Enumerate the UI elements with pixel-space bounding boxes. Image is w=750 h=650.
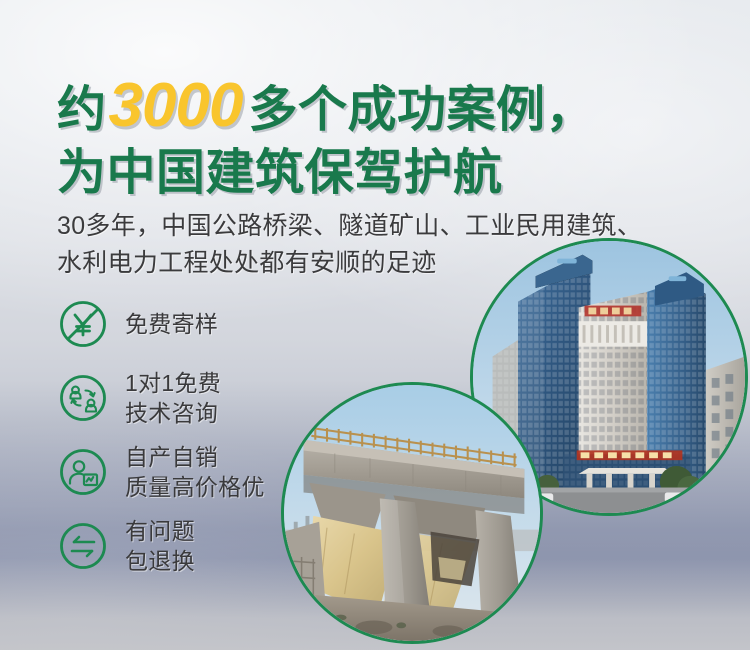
feature-label-line-2: 质量高价格优 xyxy=(125,472,265,502)
feature-label-line-1: 有问题 xyxy=(125,518,195,544)
feature-label-line-1: 免费寄样 xyxy=(125,311,218,337)
feature-label-line-1: 1对1免费 xyxy=(125,370,221,396)
feature-label-line-2: 包退换 xyxy=(125,546,195,576)
headline-suffix: 多个成功案例， xyxy=(248,83,595,137)
feature-label-consult: 1对1免费 技术咨询 xyxy=(125,368,221,428)
bridge-viaduct-photo xyxy=(281,382,543,644)
promo-banner: 约3000多个成功案例， 为中国建筑保驾护航 30多年，中国公路桥梁、隧道矿山、… xyxy=(0,0,750,650)
feature-label-return-exchange: 有问题 包退换 xyxy=(125,516,195,576)
headline: 约3000多个成功案例， 为中国建筑保驾护航 xyxy=(57,78,717,201)
return-exchange-arrows-icon xyxy=(58,521,108,571)
feature-label-free-sample: 免费寄样 xyxy=(125,309,218,339)
feature-label-self-production: 自产自销 质量高价格优 xyxy=(125,442,265,502)
headline-line-1: 约3000多个成功案例， xyxy=(57,78,717,138)
headline-prefix: 约 xyxy=(57,83,107,137)
feature-item-consult[interactable]: 1对1免费 技术咨询 xyxy=(58,372,358,424)
feature-label-line-1: 自产自销 xyxy=(125,444,218,470)
headline-number: 3000 xyxy=(107,71,249,140)
feature-item-free-sample[interactable]: 免费寄样 xyxy=(58,298,358,350)
headline-line-2: 为中国建筑保驾护航 xyxy=(57,146,717,201)
self-production-sales-chart-person-icon xyxy=(58,447,108,497)
free-sample-yen-slash-icon xyxy=(58,299,108,349)
one-on-one-consult-people-icon xyxy=(58,373,108,423)
feature-label-line-2: 技术咨询 xyxy=(125,398,221,428)
